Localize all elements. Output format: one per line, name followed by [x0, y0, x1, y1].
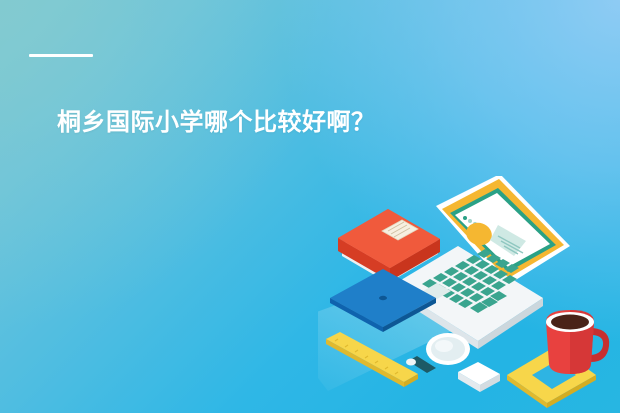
- page-title: 桐乡国际小学哪个比较好啊？: [57, 107, 376, 139]
- education-desk-isometric-illustration: [318, 176, 620, 413]
- title-rule: [29, 54, 93, 57]
- coffee-mug: [546, 310, 609, 374]
- banner-card: 桐乡国际小学哪个比较好啊？: [0, 0, 620, 413]
- eraser: [458, 362, 500, 392]
